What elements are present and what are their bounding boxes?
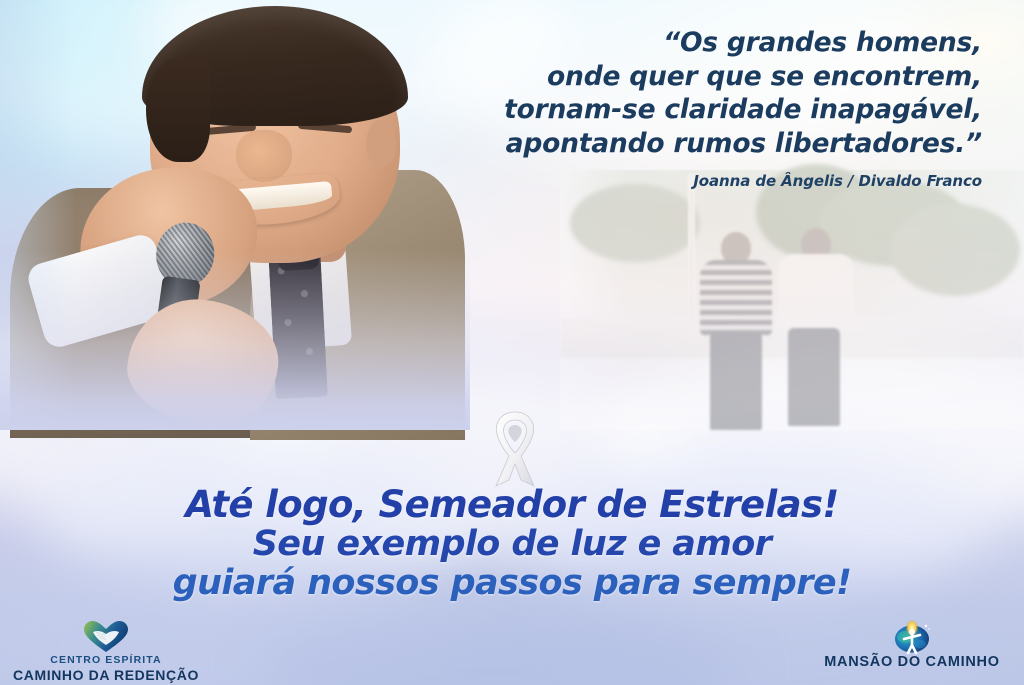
quote-line-3: tornam-se claridade inapagável, (422, 93, 982, 127)
mourning-ribbon-icon (482, 408, 548, 488)
quote-line-2: onde quer que se encontrem, (422, 60, 982, 94)
quote-block: “Os grandes homens, onde quer que se enc… (422, 26, 982, 190)
photo-figure-striped-shirt (700, 232, 772, 422)
background-photo (560, 170, 1024, 430)
quote-line-4: apontando rumos libertadores.” (422, 127, 982, 161)
portrait-divaldo-franco (0, 0, 470, 430)
quote-line-1: “Os grandes homens, (422, 26, 982, 60)
logo-right-line-2: MANSÃO DO CAMINHO (808, 654, 1016, 671)
headline-line-1: Até logo, Semeador de Estrelas! (0, 484, 1024, 525)
globe-person-icon (808, 620, 1016, 654)
logo-centro-espirita: CENTRO ESPÍRITA CAMINHO DA REDENÇÃO (6, 620, 206, 684)
photo-figure-white-shirt (778, 228, 854, 424)
heart-hands-icon (6, 620, 206, 654)
headline-line-3: guiará nossos passos para sempre! (0, 564, 1024, 603)
logo-left-line-1: CENTRO ESPÍRITA (6, 654, 206, 667)
logo-mansao-do-caminho: MANSÃO DO CAMINHO (808, 620, 1016, 671)
quote-attribution: Joanna de Ângelis / Divaldo Franco (422, 172, 982, 190)
logo-left-line-2: CAMINHO DA REDENÇÃO (6, 667, 206, 684)
headline-block: Até logo, Semeador de Estrelas! Seu exem… (0, 484, 1024, 603)
headline-line-2: Seu exemplo de luz e amor (0, 525, 1024, 564)
memorial-poster: “Os grandes homens, onde quer que se enc… (0, 0, 1024, 685)
